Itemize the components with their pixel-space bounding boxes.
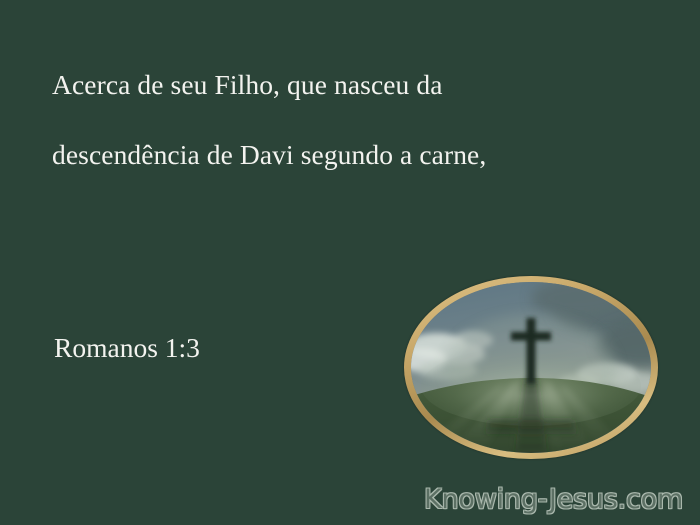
oval-photo-frame [404,276,658,459]
cross-on-hill-photo [411,282,651,453]
site-watermark: Knowing-Jesus.com [424,484,683,515]
verse-line-2: descendência de Davi segundo a carne, [52,120,612,190]
scripture-reference: Romanos 1:3 [54,332,200,364]
verse-line-1: Acerca de seu Filho, que nasceu da [52,50,612,120]
cross-scene-illustration [411,282,651,453]
verse-image-canvas: Acerca de seu Filho, que nasceu da desce… [0,0,700,525]
verse-text-block: Acerca de seu Filho, que nasceu da desce… [52,50,612,190]
